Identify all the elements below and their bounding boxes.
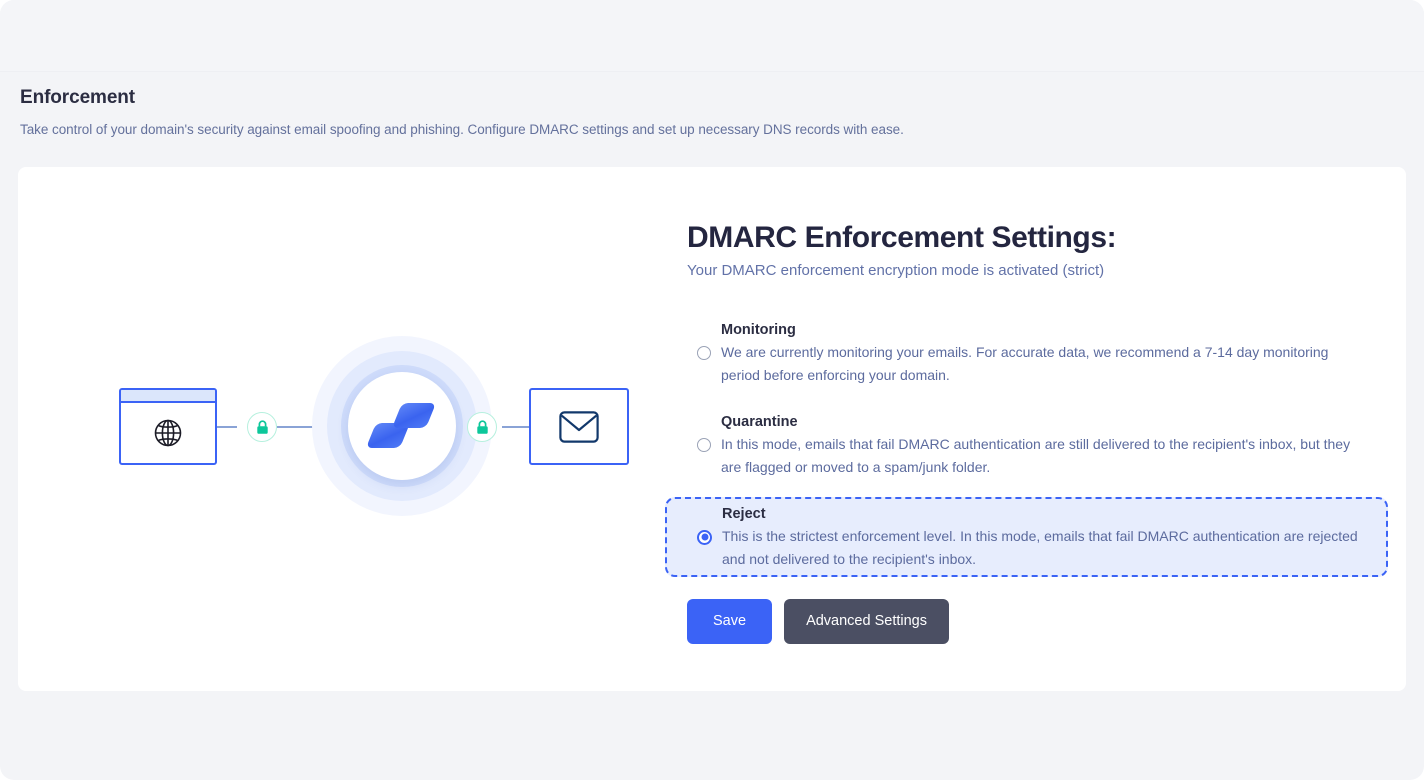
radio-reject[interactable] (697, 530, 712, 545)
settings-subtitle: Your DMARC enforcement encryption mode i… (687, 260, 1387, 281)
option-quarantine-text: Quarantine In this mode, emails that fai… (721, 412, 1371, 478)
illustration-pane (18, 167, 666, 691)
globe-icon (151, 416, 185, 450)
settings-actions: Save Advanced Settings (687, 599, 1387, 644)
radio-quarantine[interactable] (697, 438, 711, 452)
option-quarantine[interactable]: Quarantine In this mode, emails that fai… (687, 405, 1387, 485)
option-reject-description: This is the strictest enforcement level.… (722, 525, 1372, 570)
option-reject-text: Reject This is the strictest enforcement… (722, 504, 1372, 570)
advanced-settings-button[interactable]: Advanced Settings (784, 599, 949, 644)
top-strip (0, 0, 1424, 72)
browser-titlebar (121, 390, 215, 403)
mailbox-graphic (529, 388, 629, 465)
lock-icon (476, 420, 489, 435)
lock-icon (256, 420, 269, 435)
logo-shape-upper (392, 403, 436, 428)
brand-logo-icon (371, 403, 433, 449)
option-reject[interactable]: Reject This is the strictest enforcement… (665, 497, 1388, 577)
lock-badge-right (467, 412, 497, 442)
settings-title: DMARC Enforcement Settings: (687, 219, 1387, 256)
option-monitoring[interactable]: Monitoring We are currently monitoring y… (687, 313, 1387, 393)
app-shell: Enforcement Take control of your domain'… (0, 0, 1424, 780)
option-monitoring-label: Monitoring (721, 320, 1371, 340)
browser-body (121, 403, 215, 462)
enforcement-card: DMARC Enforcement Settings: Your DMARC e… (18, 167, 1406, 691)
brand-hub (312, 336, 492, 516)
save-button[interactable]: Save (687, 599, 772, 644)
radio-monitoring[interactable] (697, 346, 711, 360)
page-subtitle: Take control of your domain's security a… (20, 120, 1140, 139)
hub-circle (348, 372, 456, 480)
lock-badge-left (247, 412, 277, 442)
page-header: Enforcement Take control of your domain'… (20, 84, 1140, 139)
option-quarantine-label: Quarantine (721, 412, 1371, 432)
option-monitoring-text: Monitoring We are currently monitoring y… (721, 320, 1371, 386)
page-title: Enforcement (20, 84, 1140, 112)
option-reject-label: Reject (722, 504, 1372, 524)
option-monitoring-description: We are currently monitoring your emails.… (721, 341, 1371, 386)
settings-pane: DMARC Enforcement Settings: Your DMARC e… (666, 167, 1406, 691)
enforcement-mode-options: Monitoring We are currently monitoring y… (687, 313, 1387, 577)
envelope-icon (559, 411, 599, 443)
browser-window-graphic (119, 388, 217, 465)
dmarc-flow-illustration (102, 352, 632, 502)
option-quarantine-description: In this mode, emails that fail DMARC aut… (721, 433, 1371, 478)
